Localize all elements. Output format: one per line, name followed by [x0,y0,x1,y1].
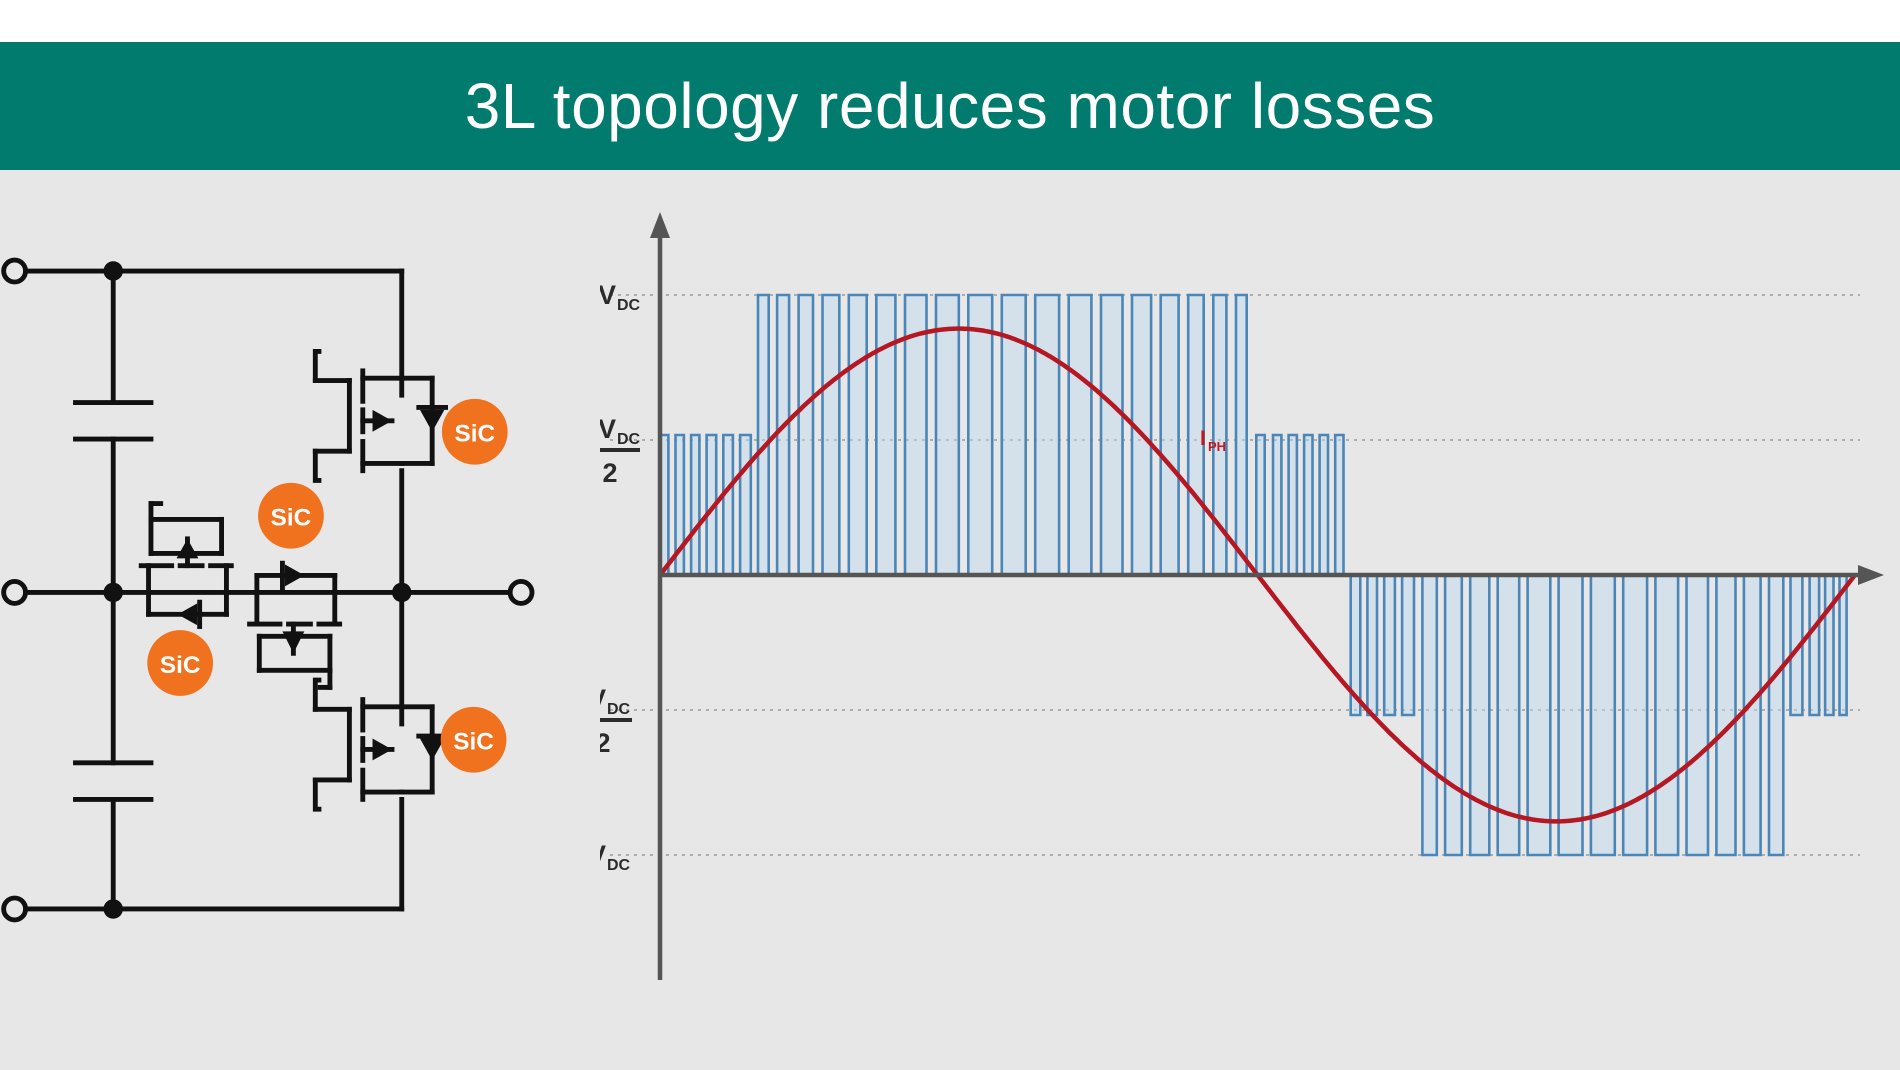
sic-badge-group: SiC SiC SiC SiC [147,399,507,773]
pwm-pulse [1528,575,1551,855]
pwm-pulse [1687,575,1709,855]
pwm-pulse [1470,575,1489,855]
pwm-pulse [1035,295,1059,575]
mosfet-hs-diode-triangle-icon [420,410,444,432]
ytick-vdc-sub: DC [617,297,641,314]
y-axis-arrow-icon [650,212,670,238]
ytick-vdc-half-sub: DC [617,431,641,448]
mosfet-cb-bulk-arrow-icon [282,631,304,653]
sic-badge-mid-lower-label: SiC [160,652,201,679]
mosfet-ls-source-lead [315,780,319,809]
mosfet-hs-bulk-arrow-icon [373,410,392,432]
pwm-pulse [1716,575,1735,855]
mosfet-hs-gate-lead [315,351,319,380]
top-white-strip [0,0,1900,42]
ytick-vdc-half-denominator: 2 [602,458,617,488]
slide-root: 3L topology reduces motor losses [0,0,1900,1070]
pwm-pulse [1101,295,1123,575]
ytick-label-vdc: V DC [600,280,641,314]
ytick-label-vdc-half: V DC 2 [600,414,641,488]
pwm-pulse [1810,575,1820,715]
mosfet-clamp-b [250,563,340,687]
pwm-pulse [1744,575,1761,855]
sic-badge-mid-lower: SiC [147,630,213,696]
sic-badge-top: SiC [442,399,508,465]
pwm-pulse [1623,575,1647,855]
pwm-pulse [777,295,789,575]
pwm-pulse [740,435,751,575]
pwm-waveform-chart-panel: V DC V DC 2 - V DC 2 [600,190,1900,1050]
chart-y-axis [650,212,670,980]
terminal-dc-plus [4,260,26,282]
mosfet-ls-bulk-arrow-icon [373,739,392,761]
three-level-t-type-inverter-schematic: SiC SiC SiC SiC [0,190,560,990]
mosfet-ca-bulk-arrow-icon [177,539,199,558]
pwm-pulse [849,295,867,575]
series-label-iph-sub: PH [1208,439,1226,454]
mosfet-ca-diode-triangle-icon [178,603,197,625]
ytick-label-neg-vdc: - V DC [600,840,631,874]
circuit-schematic-panel: SiC SiC SiC SiC [0,190,560,990]
pwm-pulse [1559,575,1583,855]
x-axis-arrow-icon [1858,565,1884,585]
pwm-pulse [1161,295,1179,575]
ytick-vdc-main: V [600,280,616,310]
sic-badge-mid-upper-label: SiC [271,504,312,531]
sic-badge-bottom-label: SiC [453,728,494,755]
pwm-pulse [1236,295,1247,575]
ytick-neg-vdc-main: V [600,840,606,870]
junction-dot-mid-left [103,583,122,602]
pwm-pulse [1422,575,1436,855]
pwm-pulse [799,295,813,575]
mosfet-ls-diode-triangle-icon [420,739,444,761]
pwm-pulse [1069,295,1092,575]
ytick-vdc-half-main: V [600,414,616,444]
chart-y-tick-labels: V DC V DC 2 - V DC 2 [600,280,641,874]
pwm-pulse [1769,575,1783,855]
junction-dot-top [103,261,122,280]
pwm-pulse [723,435,733,575]
terminal-ac-phase-right [510,581,532,603]
pwm-waveform-chart: V DC V DC 2 - V DC 2 [600,190,1900,1050]
pwm-pulse [1402,575,1414,715]
terminal-dc-minus [4,898,26,920]
sic-badge-bottom: SiC [441,707,507,773]
mosfet-ls-gate-lead [315,680,319,709]
series-label-iph-main: I [1200,427,1206,450]
junction-dot-phase [392,583,411,602]
junction-dot-bottom [103,899,122,918]
title-banner: 3L topology reduces motor losses [0,42,1900,170]
sic-badge-top-label: SiC [455,420,496,447]
pwm-pulse [1655,575,1678,855]
pwm-pulse [823,295,840,575]
pwm-pulse [968,295,992,575]
ytick-neg-vdc-half-denominator: 2 [600,728,611,758]
pwm-pulse [1367,575,1377,715]
mosfet-hs-source-lead [315,451,319,480]
mosfet-low-side [315,680,445,809]
pwm-pulse [758,295,769,575]
pwm-pulse [936,295,959,575]
terminal-ac-phase-left [4,581,26,603]
mosfet-clamp-a [141,504,231,627]
ytick-neg-vdc-half-main: V [600,684,606,714]
ytick-neg-vdc-sub: DC [607,857,631,874]
ytick-label-neg-vdc-half: - V DC 2 [600,684,632,758]
mosfet-high-side [315,351,445,480]
pwm-pulse [1445,575,1462,855]
mosfet-cb-diode-triangle-icon [285,564,304,586]
page-title: 3L topology reduces motor losses [465,74,1436,138]
pwm-pulse [876,295,895,575]
pwm-pulse [1384,575,1395,715]
sic-badge-mid-upper: SiC [258,483,324,549]
ytick-neg-vdc-half-sub: DC [607,701,631,718]
